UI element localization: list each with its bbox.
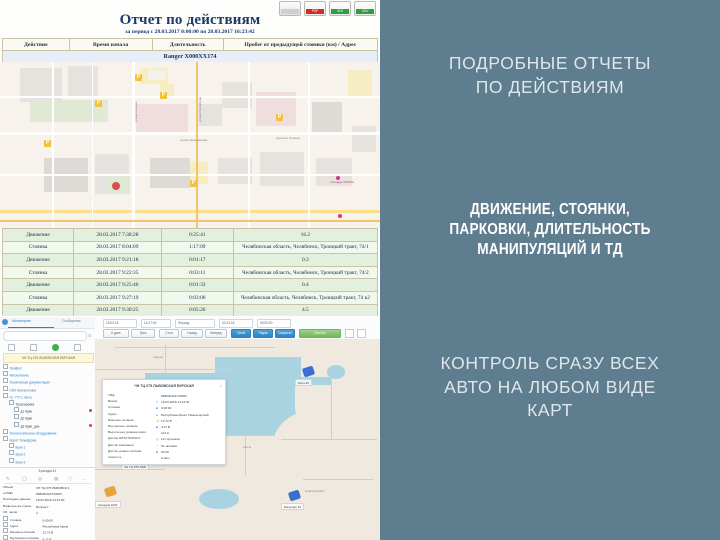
vehicle-group-row: Ranger X000XX174	[3, 51, 378, 63]
checkbox[interactable]	[9, 443, 14, 448]
list-item-label: Кран 1	[16, 446, 26, 450]
column-start-time: Время начала	[69, 39, 152, 51]
list-item-label: Технологическое оборудование	[10, 431, 57, 435]
vehicle-marker[interactable]	[105, 487, 116, 496]
layers-icon[interactable]	[345, 329, 354, 338]
forward-button[interactable]: Вперед	[205, 329, 227, 339]
properties-panel: Бригада 41 ✎ ◯ ◎ ▤ ⓘ … ОбъектЧН ТЦ 075 Л…	[0, 467, 95, 540]
period-select[interactable]: Период	[175, 319, 215, 328]
vehicle-label: Бриз-10	[295, 379, 312, 386]
checkbox[interactable]	[14, 414, 19, 419]
popup-key: Стоянка	[108, 405, 156, 409]
popup-value: 0:00:00	[161, 406, 171, 410]
online-status-icon[interactable]	[52, 344, 59, 351]
property-key: ш.IMEI	[3, 491, 36, 495]
list-item-label: д1 Кран	[21, 410, 33, 414]
list-item-label: Техническая документация	[10, 381, 50, 385]
promo-headline-control: КОНТРОЛЬ СРАЗУ ВСЕХ АВТО НА ЛЮБОМ ВИДЕ К…	[380, 352, 720, 423]
properties-toolbar[interactable]: ✎ ◯ ◎ ▤ ⓘ …	[4, 476, 91, 484]
parking-icon: P	[44, 140, 51, 147]
control-line-2: АВТО НА ЛЮБОМ ВИДЕ	[380, 376, 720, 400]
active-tab-underline	[8, 327, 54, 328]
pause-button[interactable]: Пауза	[253, 329, 273, 339]
list-item[interactable]: Кран 1	[9, 443, 92, 450]
checkbox[interactable]	[9, 458, 14, 463]
list-item-label: Трассировка	[16, 403, 35, 407]
property-key: Стоянка	[10, 518, 43, 522]
list-item[interactable]: д1 Кран	[14, 407, 92, 414]
track-button[interactable]: Трек	[131, 329, 155, 339]
group-view-icon[interactable]	[30, 344, 37, 351]
filter-icon[interactable]: ☰	[88, 333, 92, 338]
alarm-icon	[89, 424, 92, 427]
city-map[interactable]: P P P P P P улица Овчинникова улица Ельк…	[0, 62, 380, 228]
cell-start-time: 28.03.2017 8:04:09	[74, 241, 162, 254]
promo-image: PDF XLS CSV Отчет по действиям за период…	[0, 0, 720, 540]
checkbox[interactable]	[14, 422, 19, 427]
speed-button[interactable]: Скорость	[275, 329, 295, 339]
property-key: Водитель на строке	[3, 504, 36, 508]
target-icon[interactable]: ◎	[38, 476, 42, 482]
cell-action: Стоянка	[3, 266, 74, 279]
feature-line-3: МАНИПУЛЯЦИЙ И ТД	[400, 240, 699, 260]
parking-icon: P	[190, 180, 197, 187]
checkbox[interactable]	[9, 450, 14, 455]
cell-action: Движение	[3, 304, 74, 316]
list-item-label: Кран 3	[16, 460, 26, 464]
tracking-app-screenshot: Мониторинг Сообщения ☰ ЧН ТЦ 075 ЛЬВОВСК…	[0, 317, 380, 540]
list-item[interactable]: Автоколонна	[3, 371, 92, 378]
properties-title: Бригада 41	[0, 469, 95, 473]
table-row[interactable]: Движение28.03.2017 9:25:460:01:330.4	[3, 279, 378, 292]
table-row[interactable]: Движение28.03.2017 9:21:180:01:170.3	[3, 254, 378, 267]
property-key: Адрес	[10, 524, 43, 528]
vehicle-marker[interactable]	[303, 367, 314, 376]
popup-key: Время	[108, 399, 156, 403]
list-item[interactable]: Технологическое оборудование	[3, 429, 92, 436]
search-input[interactable]	[3, 331, 87, 341]
list-item[interactable]: Кран 3	[9, 458, 92, 465]
popup-value: 12 спутников	[161, 437, 180, 441]
date-to-field[interactable]: 20.03.18	[219, 319, 253, 328]
list-item[interactable]: Техническая документация	[3, 378, 92, 385]
stop-button[interactable]: Стоп	[159, 329, 179, 339]
property-value: 18.03.2018 14:13:00	[36, 498, 64, 502]
checkbox[interactable]	[3, 436, 8, 441]
map-toolbar[interactable]: 18.03.18 14:17:00 Период 20.03.18 00:00:…	[95, 317, 380, 340]
checkbox[interactable]	[3, 528, 8, 533]
table-body: Движение28.03.2017 7:38:280:25:4116.2 Ст…	[3, 229, 378, 317]
property-key: Об. часов	[3, 510, 36, 514]
property-row: Внутреннее питание4.17 В	[3, 535, 92, 540]
vehicle-name: Ranger X000XX174	[3, 51, 378, 63]
list-item-label: ТвойБот	[10, 367, 22, 371]
cell-duration: 0:03:11	[161, 266, 233, 279]
tab-monitoring[interactable]: Мониторинг	[12, 319, 31, 323]
cell-action: Движение	[3, 254, 74, 267]
checkbox[interactable]	[3, 522, 8, 527]
column-distance-address: Пробег от предыдущей стоянки (км) / Адре…	[223, 39, 377, 51]
cell-start-time: 28.03.2017 7:38:28	[74, 229, 162, 242]
list-item-label: СКО Автоколонна	[10, 388, 37, 392]
cell-duration: 0:01:17	[161, 254, 233, 267]
checkbox[interactable]	[14, 407, 19, 412]
cell-address: Челябинская область, Челябинск, Троицкий…	[233, 241, 377, 254]
cell-action: Стоянка	[3, 291, 74, 304]
property-key: Объект	[3, 485, 36, 489]
popup-value: 4.17 В	[161, 425, 170, 429]
list-item[interactable]: Гр. ГТУ 1 часть	[3, 393, 92, 400]
gear-icon[interactable]	[2, 319, 8, 325]
refresh-icon[interactable]: ◯	[22, 476, 27, 482]
checkbox[interactable]	[3, 364, 8, 369]
property-value: 868000124744003	[36, 492, 62, 496]
cell-action: Движение	[3, 229, 74, 242]
alarm-icon	[89, 409, 92, 412]
cell-action: Стоянка	[3, 241, 74, 254]
report-table-body[interactable]: Движение28.03.2017 7:38:280:25:4116.2 Ст…	[2, 228, 378, 316]
property-key: Последние данные	[3, 497, 36, 501]
list-item[interactable]: Трассировка	[9, 400, 92, 407]
back-button[interactable]: Назад	[181, 329, 203, 339]
chart-icon[interactable]: ▤	[54, 476, 58, 482]
settings-icon[interactable]	[74, 344, 81, 351]
crimea-map[interactable]: Херсон Керчь Симферополь Новороссийск Бр…	[95, 339, 380, 540]
cell-action: Движение	[3, 279, 74, 292]
checkbox[interactable]	[3, 393, 8, 398]
checkbox[interactable]	[3, 516, 8, 521]
popup-key: Внешнее питание	[108, 418, 156, 422]
list-item[interactable]: ТвойБот	[3, 364, 92, 371]
promo-panel: ПОДРОБНЫЕ ОТЧЕТЫ ПО ДЕЙСТВИЯМ ДВИЖЕНИЕ, …	[380, 0, 720, 540]
list-item-label: Кран 2	[16, 453, 26, 457]
map-poi-label: площадь МОПРа	[330, 180, 354, 184]
sidebar-icon-row[interactable]	[4, 343, 90, 351]
checkbox[interactable]	[3, 429, 8, 434]
promo-headline-features: ДВИЖЕНИЕ, СТОЯНКИ, ПАРКОВКИ, ДЛИТЕЛЬНОСТ…	[400, 200, 699, 260]
popup-key: Датчик уровня топлива	[108, 449, 156, 453]
close-icon[interactable]: ×	[220, 383, 222, 388]
headline-line-1: ПОДРОБНЫЕ ОТЧЕТЫ	[380, 52, 720, 76]
parking-icon: P	[160, 92, 167, 99]
table-row[interactable]: Стоянка28.03.2017 9:22:350:03:11Челябинс…	[3, 266, 378, 279]
checkbox[interactable]	[3, 386, 8, 391]
popup-value: 60.28	[161, 450, 169, 454]
promo-headline-reports: ПОДРОБНЫЕ ОТЧЕТЫ ПО ДЕЙСТВИЯМ	[380, 52, 720, 99]
list-item-label: Ворот Тельфером	[10, 439, 37, 443]
cell-address: 0.4	[233, 279, 377, 292]
control-line-3: КАРТ	[380, 399, 720, 423]
cell-duration: 1:17:09	[161, 241, 233, 254]
date-from-field[interactable]: 18.03.18	[103, 319, 137, 328]
report-period: за период с 28.03.2017 0:00:00 по 28.03.…	[0, 29, 380, 35]
table-row[interactable]: Стоянка28.03.2017 9:27:190:03:06Челябинс…	[3, 291, 378, 304]
edit-icon[interactable]: ✎	[6, 476, 10, 482]
popup-key: Датчик зажигания	[108, 443, 156, 447]
popup-key: Высота над уровнем моря	[108, 430, 156, 434]
property-key: Внешнее питание	[10, 530, 43, 534]
cell-address: Челябинская область, Челябинск, Троицкий…	[233, 291, 377, 304]
map-street-label: проспект Ленина	[276, 136, 300, 140]
checkbox[interactable]	[9, 400, 14, 405]
column-duration: Длительность	[152, 39, 223, 51]
checkbox[interactable]	[3, 535, 8, 540]
popup-key: Адрес	[108, 412, 156, 416]
play-button[interactable]: Плей	[231, 329, 251, 339]
vehicle-info-popup[interactable]: ЧН ТЦ 075 ЛЬВОВСКАЯ ЕКРСКАЯ × УИД8680001…	[102, 379, 226, 465]
poi-icon	[338, 214, 342, 218]
popup-value: 0 км/ч	[161, 456, 170, 460]
map-street-label: улица Российская	[198, 97, 202, 122]
popup-value: 18.03.2018 14:13:00	[161, 400, 189, 404]
parking-icon: P	[95, 100, 102, 107]
parking-icon: P	[135, 74, 142, 81]
tab-messages[interactable]: Сообщения	[62, 319, 80, 323]
checkbox[interactable]	[3, 371, 8, 376]
feature-line-1: ДВИЖЕНИЕ, СТОЯНКИ,	[400, 200, 699, 220]
table-row[interactable]: Стоянка28.03.2017 8:04:091:17:09Челябинс…	[3, 241, 378, 254]
property-key: Внутреннее питание	[10, 536, 43, 540]
cell-duration: 0:05:26	[161, 304, 233, 316]
tree-header: ЧН ТЦ 075 ЛЬВОВСКАЯ ЕКРСКАЯ	[3, 353, 94, 363]
table-header-row: Действие Время начала Длительность Пробе…	[3, 39, 378, 51]
list-item[interactable]: СКО Автоколонна	[3, 386, 92, 393]
cell-start-time: 28.03.2017 9:25:46	[74, 279, 162, 292]
column-action: Действие	[3, 39, 70, 51]
control-line-1: КОНТРОЛЬ СРАЗУ ВСЕХ	[380, 352, 720, 376]
map-street-label: улица Елькина	[134, 101, 138, 122]
sidebar-tabbar[interactable]: Мониторинг Сообщения	[0, 317, 95, 329]
cell-start-time: 28.03.2017 9:21:18	[74, 254, 162, 267]
more-icon[interactable]: …	[82, 476, 86, 481]
popup-value: 868000124710002	[161, 394, 187, 398]
list-item[interactable]: Кран 2	[9, 450, 92, 457]
vehicle-marker[interactable]	[289, 491, 300, 500]
property-value: 4	[36, 511, 38, 515]
headline-line-2: ПО ДЕЙСТВИЯМ	[380, 76, 720, 100]
list-item[interactable]: д3 Кран_дан	[14, 422, 92, 429]
property-value: ЧН ТЦ 075 ЛЬВОВСК 4	[36, 486, 69, 490]
popup-value: 113 м	[161, 431, 169, 435]
vehicle-label: Ариадна 0101	[95, 501, 121, 508]
cell-address: 0.3	[233, 254, 377, 267]
property-value: Волков Г	[36, 505, 49, 509]
popup-value: Не активен	[161, 444, 177, 448]
fullscreen-icon[interactable]	[357, 329, 366, 338]
popup-key: УИД	[108, 393, 156, 397]
cell-start-time: 28.03.2017 9:22:35	[74, 266, 162, 279]
report-title: Отчет по действиям	[0, 12, 380, 29]
table-row[interactable]: Движение28.03.2017 7:38:280:25:4116.2	[3, 229, 378, 242]
popup-key: Внутреннее питание	[108, 424, 156, 428]
vehicle-label: Багерово 61	[281, 503, 304, 510]
popup-value: Республика Крым, Нижнегорский	[161, 413, 209, 417]
goto-date-button[interactable]: К дате	[103, 329, 129, 339]
cell-duration: 0:25:41	[161, 229, 233, 242]
cell-start-time: 28.03.2017 9:27:19	[74, 291, 162, 304]
table-row[interactable]: Движение28.03.2017 9:30:250:05:264.5	[3, 304, 378, 316]
list-item-label: д2 Кран	[21, 417, 33, 421]
map-street-label: улица Овчинникова	[180, 138, 207, 142]
popup-title: ЧН ТЦ 075 ЛЬВОВСКАЯ ЕКРСКАЯ	[103, 384, 225, 388]
feature-line-2: ПАРКОВКИ, ДЛИТЕЛЬНОСТЬ	[400, 220, 699, 240]
checkbox[interactable]	[3, 378, 8, 383]
popup-row: Скорость0 км/ч	[108, 455, 221, 461]
parking-icon: P	[276, 114, 283, 121]
fast-button[interactable]: Быстро	[299, 329, 341, 339]
time-to-field[interactable]: 00:00:00	[257, 319, 291, 328]
list-item-label: д3 Кран_дан	[21, 424, 40, 428]
cell-duration: 0:03:06	[161, 291, 233, 304]
time-from-field[interactable]: 14:17:00	[141, 319, 171, 328]
list-view-icon[interactable]	[8, 344, 15, 351]
cell-start-time: 28.03.2017 9:30:25	[74, 304, 162, 316]
cell-address: Челябинская область, Челябинск, Троицкий…	[233, 266, 377, 279]
list-item-label: Гр. ГТУ 1 часть	[10, 395, 32, 399]
popup-key: Датчик GPS/ГЛОНАСС	[108, 436, 156, 440]
popup-key: Скорость	[108, 455, 156, 459]
info-icon[interactable]: ⓘ	[68, 476, 72, 482]
stop-marker-icon[interactable]	[112, 182, 120, 192]
list-item[interactable]: д2 Кран	[14, 414, 92, 421]
list-item[interactable]: Ворот Тельфером	[3, 436, 92, 443]
popup-value: 12.72 В	[161, 419, 172, 423]
report-screenshot: PDF XLS CSV Отчет по действиям за период…	[0, 0, 380, 316]
cell-address: 4.5	[233, 304, 377, 316]
cell-address: 16.2	[233, 229, 377, 242]
cell-duration: 0:01:33	[161, 279, 233, 292]
app-sidebar: Мониторинг Сообщения ☰ ЧН ТЦ 075 ЛЬВОВСК…	[0, 317, 96, 540]
list-item-label: Автоколонна	[10, 374, 29, 378]
